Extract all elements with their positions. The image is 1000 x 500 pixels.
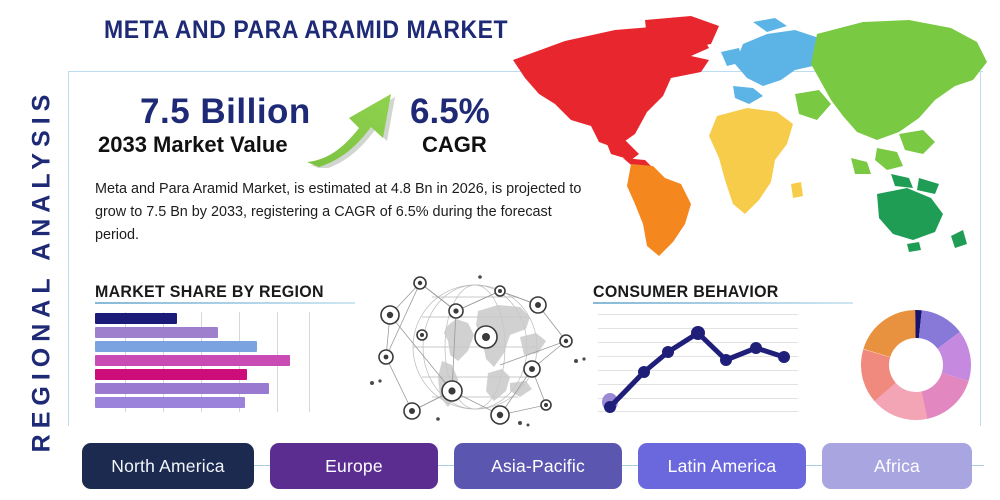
market-share-rule [95,302,355,304]
market-share-header: MARKET SHARE BY REGION [95,282,324,302]
bar-5 [95,369,247,380]
line-series [598,310,798,415]
bar-2 [95,327,218,338]
region-connector-5 [972,465,984,466]
global-network-icon [360,265,590,430]
bar-6 [95,383,269,394]
region-connector-3 [622,465,638,466]
region-label-latin-america: Latin America [668,456,777,477]
region-button-asia-pacific[interactable]: Asia-Pacific [454,443,622,489]
infographic-canvas: REGIONAL ANALYSIS META AND PARA ARAMID M… [0,0,1000,500]
segment-donut-chart [861,310,971,420]
market-value: 7.5 Billion [140,92,311,132]
region-button-africa[interactable]: Africa [822,443,972,489]
bar-3 [95,341,257,352]
region-button-bar: North America Europe Asia-Pacific Latin … [82,443,982,489]
page-title: META AND PARA ARAMID MARKET [104,16,508,45]
bar-4 [95,355,290,366]
region-connector-2 [438,465,454,466]
region-connector-4 [806,465,822,466]
region-connector-1 [254,465,270,466]
kpi-block: 7.5 Billion 2033 Market Value 6.5% CAGR [90,92,510,170]
region-button-europe[interactable]: Europe [270,443,438,489]
bar-1 [95,313,177,324]
region-label-africa: Africa [874,456,920,477]
consumer-behavior-rule [593,302,853,304]
bar-7 [95,397,245,408]
region-label-asia-pacific: Asia-Pacific [491,456,585,477]
cagr-caption: CAGR [422,132,487,158]
region-label-europe: Europe [325,456,383,477]
market-value-caption: 2033 Market Value [98,132,288,158]
market-share-bar-chart [95,312,310,412]
world-map-icon [495,8,995,270]
growth-arrow-icon [305,88,415,168]
side-label: REGIONAL ANALYSIS [28,61,57,481]
region-button-north-america[interactable]: North America [82,443,254,489]
cagr-value: 6.5% [410,92,490,132]
consumer-behavior-line-chart [598,310,798,415]
region-button-latin-america[interactable]: Latin America [638,443,806,489]
consumer-behavior-header: CONSUMER BEHAVIOR [593,282,779,302]
region-label-north-america: North America [111,456,224,477]
